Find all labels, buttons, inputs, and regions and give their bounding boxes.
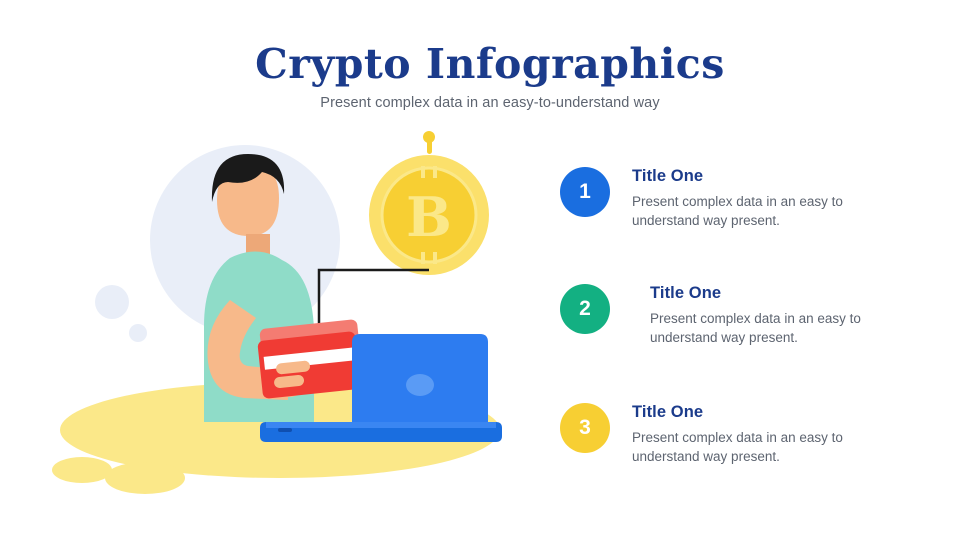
- item-description: Present complex data in an easy to under…: [650, 309, 900, 347]
- item-text-block: Title One Present complex data in an eas…: [632, 401, 882, 466]
- illustration: B: [30, 130, 550, 510]
- ground-blob-small-left: [52, 457, 112, 483]
- svg-text:B: B: [406, 185, 452, 249]
- status-badge: 1: [560, 167, 610, 217]
- page-title: Crypto Infographics: [0, 42, 980, 87]
- page-subtitle: Present complex data in an easy-to-under…: [0, 95, 980, 111]
- item-description: Present complex data in an easy to under…: [632, 192, 882, 230]
- credit-card: [257, 319, 363, 399]
- list-item[interactable]: 1 Title One Present complex data in an e…: [560, 165, 960, 230]
- header: Crypto Infographics Present complex data…: [0, 42, 980, 111]
- item-title: Title One: [632, 403, 882, 422]
- list-item[interactable]: 2 Title One Present complex data in an e…: [560, 282, 960, 347]
- item-title: Title One: [632, 167, 882, 186]
- item-text-block: Title One Present complex data in an eas…: [650, 282, 900, 347]
- bubble-small-1: [95, 285, 129, 319]
- item-text-block: Title One Present complex data in an eas…: [632, 165, 882, 230]
- bubble-small-2: [129, 324, 147, 342]
- bitcoin-coin: B: [369, 131, 489, 275]
- ground-blob-small-right: [105, 462, 185, 494]
- status-badge: 3: [560, 403, 610, 453]
- item-title: Title One: [650, 284, 900, 303]
- status-badge: 2: [560, 284, 610, 334]
- slide: Crypto Infographics Present complex data…: [0, 0, 980, 551]
- list-item[interactable]: 3 Title One Present complex data in an e…: [560, 401, 960, 466]
- item-description: Present complex data in an easy to under…: [632, 428, 882, 466]
